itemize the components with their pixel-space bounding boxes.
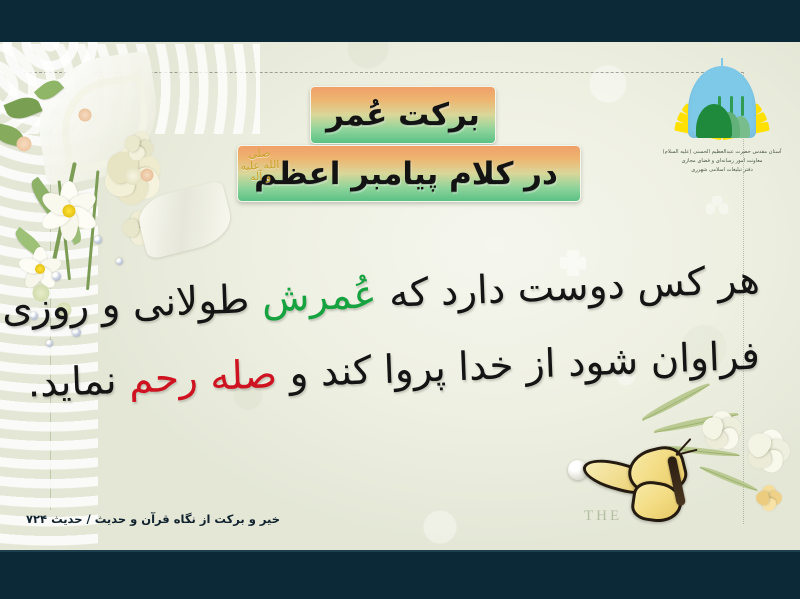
logo-caption-line: دفتر تبلیغات اسلامی شهرری: [662, 166, 782, 175]
logo-caption-line: معاونت امور رسانه‌ای و فضای مجازی: [662, 157, 782, 166]
gem-bead: [94, 236, 102, 244]
hadith-line-1-part-2: طولانی و روزی اش: [0, 277, 263, 335]
white-flower: [746, 430, 790, 472]
butterfly-icon: [588, 448, 708, 532]
hadith-highlight-omrash: عُمرش: [261, 272, 378, 321]
footer-source: خیر و برکت از نگاه قرآن و حدیث / حدیث ۷۲…: [26, 512, 280, 526]
logo-caption: آستان مقدس حضرت عبدالعظیم الحسنی (علیه ا…: [662, 148, 782, 175]
tiny-blossom: [78, 108, 92, 122]
hadith-poster: THE: [0, 0, 800, 599]
frame-bar-top: [0, 0, 800, 42]
logo-caption-line: آستان مقدس حضرت عبدالعظیم الحسنی (علیه ا…: [662, 148, 782, 157]
title-banner-secondary-text: در کلام پیامبر اعظم: [254, 156, 564, 192]
title-banner-primary-text: برکت عُمر: [326, 97, 480, 133]
tiny-blossom: [16, 136, 32, 152]
leaf: [3, 92, 42, 123]
hadith-line-2-part-1: فراوان شود از خدا پروا کند و: [276, 334, 760, 398]
tiny-blossom: [140, 168, 154, 182]
yellow-blossom: [756, 486, 782, 510]
hadith-line-2-part-2: نماید.: [27, 358, 130, 407]
puff-flower: [124, 132, 154, 160]
salawat-mark: صلی الله علیه و آله: [239, 147, 281, 184]
logo-mark: [667, 44, 777, 144]
frame-bar-bottom: [0, 552, 800, 599]
hadith-text: هر کس دوست دارد که عُمرش طولانی و روزی ا…: [60, 258, 760, 406]
white-flower: [702, 412, 742, 450]
narcissus-flower: [38, 182, 100, 240]
arch-spire: [721, 58, 723, 70]
hadith-line-1-part-1: هر کس دوست دارد که: [376, 258, 761, 318]
mosque-dome-main: [696, 104, 732, 138]
minaret: [741, 96, 744, 116]
butterfly-foliage-decoration: THE: [550, 412, 800, 552]
organization-logo: آستان مقدس حضرت عبدالعظیم الحسنی (علیه ا…: [662, 44, 782, 184]
hadith-highlight-seleh-rahem: صله رحم: [128, 352, 278, 403]
title-banner-secondary: در کلام پیامبر اعظم: [237, 145, 581, 202]
title-banner-primary: برکت عُمر: [310, 86, 496, 144]
